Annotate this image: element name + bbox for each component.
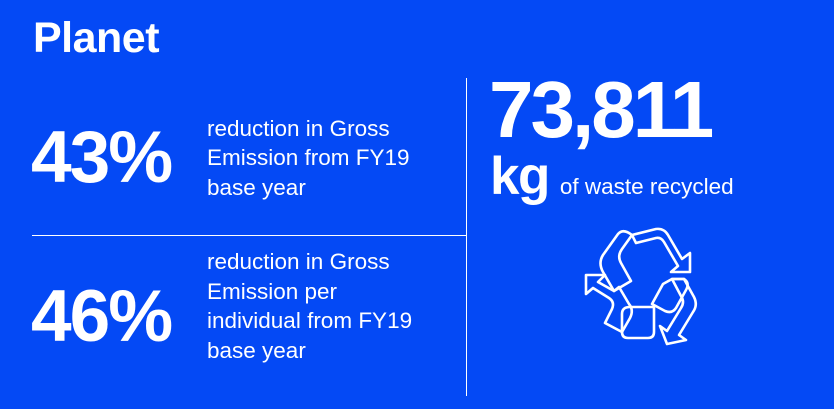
stat-gross-emission-total: 43% reduction in Gross Emission from FY1… <box>0 82 466 232</box>
stat-label: reduction in Gross Emission per individu… <box>207 238 417 365</box>
recycle-icon-glyph <box>578 224 714 354</box>
waste-recycled-panel: 73,811 kg of waste recycled <box>466 0 834 409</box>
page-title: Planet <box>33 17 159 60</box>
stat-value: 46% <box>0 238 207 353</box>
planet-infographic: Planet 43% reduction in Gross Emission f… <box>0 0 834 409</box>
waste-recycled-unit: kg <box>490 150 549 203</box>
stat-gross-emission-per-individual: 46% reduction in Gross Emission per indi… <box>0 238 466 403</box>
waste-recycled-caption: of waste recycled <box>560 176 734 199</box>
recycle-icon <box>578 224 714 354</box>
horizontal-divider <box>32 235 466 236</box>
stat-value: 43% <box>0 121 207 194</box>
waste-unit-line: kg of waste recycled <box>490 150 734 203</box>
stat-label: reduction in Gross Emission from FY19 ba… <box>207 112 417 203</box>
waste-recycled-value: 73,811 <box>489 70 711 150</box>
